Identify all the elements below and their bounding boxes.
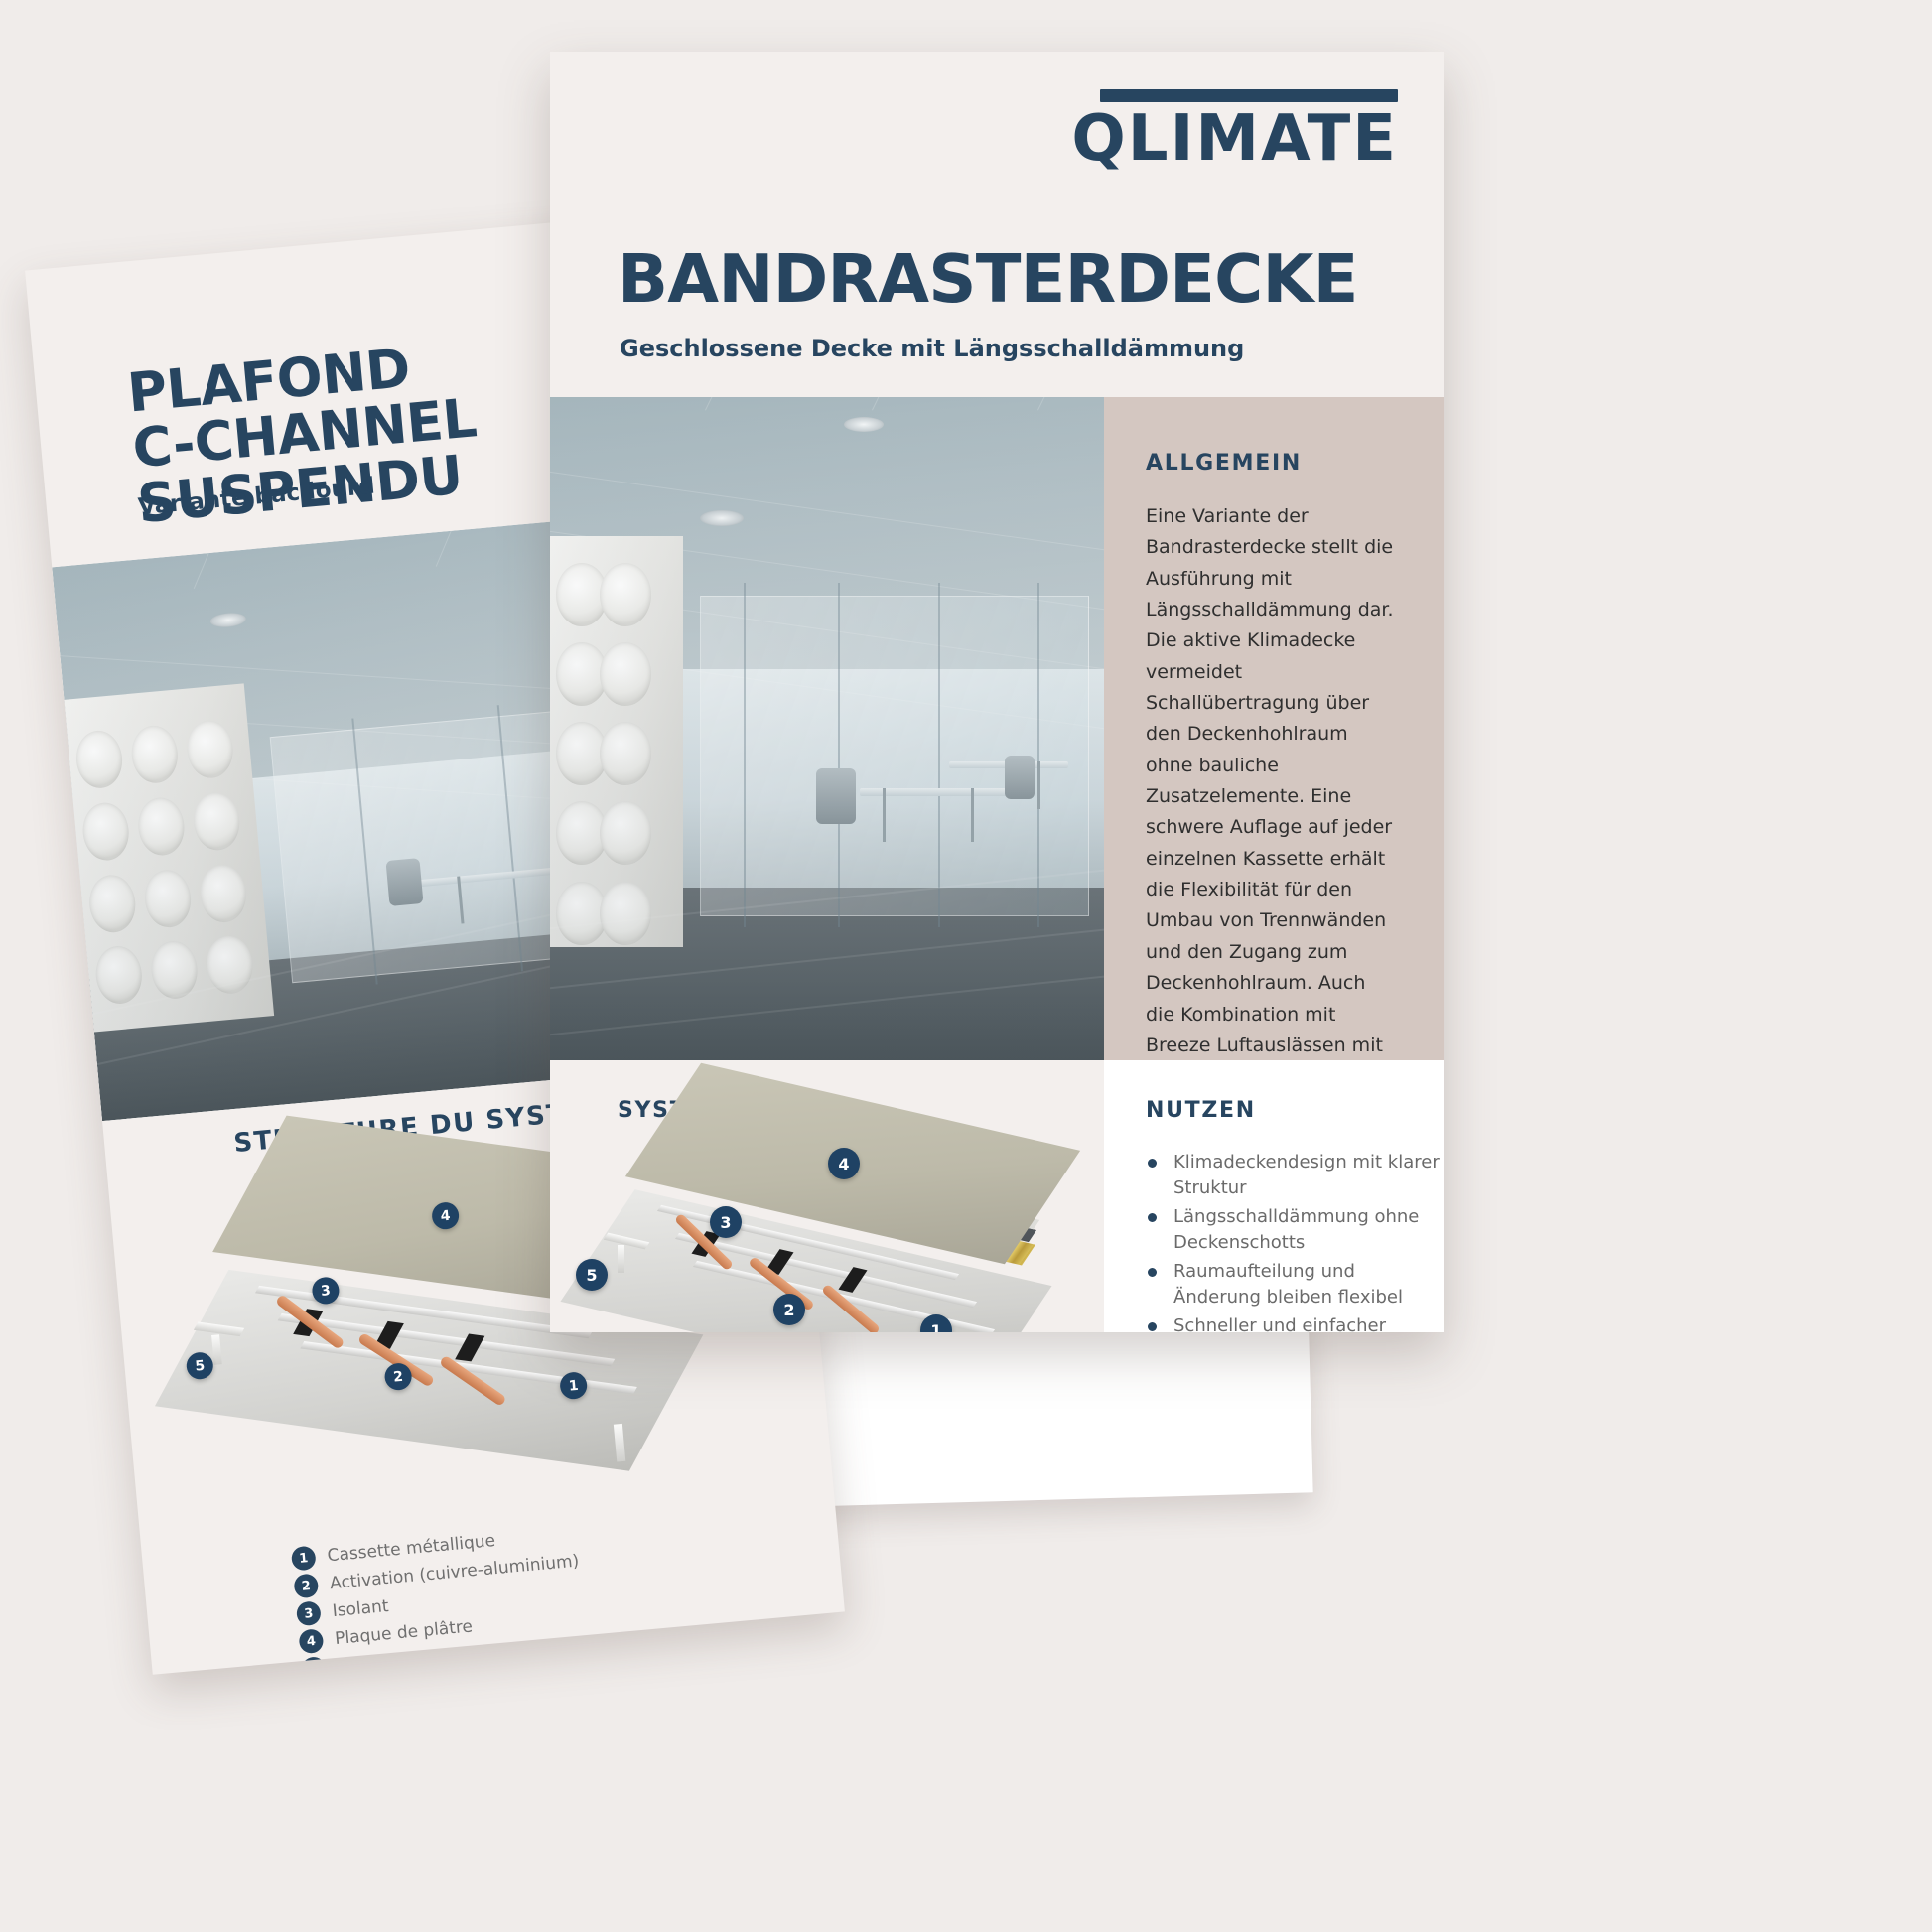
legend-badge-4: 4 xyxy=(298,1628,324,1654)
diagram-badge-3: 3 xyxy=(710,1206,742,1238)
nutzen-item: Klimadeckendesign mit klarer Struktur xyxy=(1146,1150,1444,1200)
nutzen-item: Längsschalldämmung ohne Deckenschotts xyxy=(1146,1204,1444,1255)
hero-row: ALLGEMEIN Eine Variante der Bandrasterde… xyxy=(550,397,1444,1060)
page-subtitle: Geschlossene Decke mit Längsschalldämmun… xyxy=(620,335,1244,362)
logo-bar-icon xyxy=(1100,89,1398,102)
legend-badge-1: 1 xyxy=(291,1546,317,1572)
legend-label-3: Isolant xyxy=(332,1596,389,1621)
allgemein-body: Eine Variante der Bandrasterdecke stellt… xyxy=(1146,501,1400,1124)
legend-badge-2: 2 xyxy=(293,1573,319,1598)
brand-name: QLIMATE xyxy=(1071,110,1398,169)
front-header: QLIMATE BANDRASTERDECKE Geschlossene Dec… xyxy=(550,52,1444,397)
lower-row: NUTZEN Klimadeckendesign mit klarer Stru… xyxy=(550,1060,1444,1332)
system-diagram: 4 3 2 1 5 xyxy=(568,1120,1084,1332)
nutzen-item: Raumaufteilung und Änderung bleiben flex… xyxy=(1146,1259,1444,1310)
brand-logo: QLIMATE xyxy=(1071,89,1398,169)
allgemein-heading: ALLGEMEIN xyxy=(1146,451,1400,476)
nutzen-item: Schneller und einfacher Zugang zum Decke… xyxy=(1146,1313,1444,1332)
page-title: BANDRASTERDECKE xyxy=(618,246,1358,313)
front-sheet-german: QLIMATE BANDRASTERDECKE Geschlossene Dec… xyxy=(550,52,1444,1332)
nutzen-list: Klimadeckendesign mit klarer Struktur Lä… xyxy=(1146,1150,1444,1332)
diagram-badge-5: 5 xyxy=(576,1259,608,1291)
diagram-badge-2: 2 xyxy=(773,1294,805,1325)
nutzen-block: NUTZEN Klimadeckendesign mit klarer Stru… xyxy=(1104,1060,1444,1332)
allgemein-panel: ALLGEMEIN Eine Variante der Bandrasterde… xyxy=(1104,397,1444,1060)
poster-stage: PLAFOND C-CHANNEL SUSPENDU Variante bac … xyxy=(0,0,1932,1932)
legend-badge-5: 5 xyxy=(301,1656,327,1675)
nutzen-heading: NUTZEN xyxy=(1146,1098,1256,1123)
legend-badge-3: 3 xyxy=(296,1600,322,1626)
diagram-badge-4: 4 xyxy=(828,1148,860,1179)
hero-photo xyxy=(550,397,1104,1060)
